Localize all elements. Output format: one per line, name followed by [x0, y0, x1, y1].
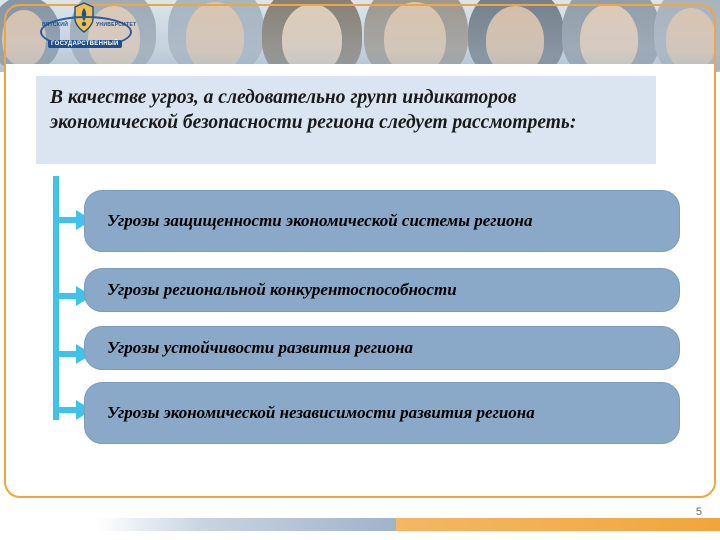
list-item[interactable]: Угрозы защищенности экономической систем…: [84, 190, 680, 252]
header-statement-text: В качестве угроз, а следовательно групп …: [50, 86, 642, 136]
header-statement-box: В качестве угроз, а следовательно групп …: [36, 76, 656, 164]
page-number: 5: [696, 506, 702, 518]
university-logo: ВЯТСКИЙ УНИВЕРСИТЕТ ГОСУДАРСТВЕННЫЙ: [32, 2, 136, 58]
footer-gradient-left: [96, 518, 396, 531]
list-item-label: Угрозы устойчивости развития региона: [107, 337, 413, 358]
footer-bar: [0, 500, 720, 540]
logo-right-word: УНИВЕРСИТЕТ: [96, 22, 136, 28]
footer-gradient-right: [396, 518, 720, 531]
list-item-label: Угрозы региональной конкурентоспособност…: [107, 279, 457, 300]
list-item-label: Угрозы экономической независимости разви…: [107, 402, 535, 423]
list-item[interactable]: Угрозы экономической независимости разви…: [84, 382, 680, 444]
list-item[interactable]: Угрозы устойчивости развития региона: [84, 326, 680, 370]
list-item[interactable]: Угрозы региональной конкурентоспособност…: [84, 268, 680, 312]
logo-bottom-word: ГОСУДАРСТВЕННЫЙ: [48, 40, 122, 48]
list-item-label: Угрозы защищенности экономической систем…: [107, 210, 532, 231]
logo-left-word: ВЯТСКИЙ: [42, 22, 68, 28]
slide: ВЯТСКИЙ УНИВЕРСИТЕТ ГОСУДАРСТВЕННЫЙ В ка…: [0, 0, 720, 540]
